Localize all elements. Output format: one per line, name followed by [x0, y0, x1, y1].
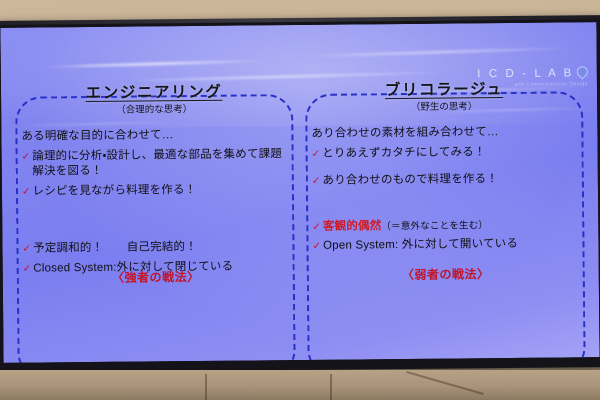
list-item: ✓ Open System: 外に対して開いている	[312, 237, 574, 255]
furniture-edge	[330, 374, 332, 400]
list-item-label: 論理的に分析・設計し、最適な部品を集めて課題解決を図る！	[32, 147, 284, 180]
lead-text-engineering: ある明確な目的に合わせて…	[21, 128, 283, 146]
screen-glare-streak	[41, 59, 271, 69]
checkmark-icon: ✓	[312, 175, 321, 188]
list-item-label: とりあえずカタチにしてみる！	[322, 144, 574, 162]
column-body-engineering: ある明確な目的に合わせて… ✓ 論理的に分析・設計し、最適な部品を集めて課題解決…	[15, 128, 294, 277]
list-item: ✓ 論理的に分析・設計し、最適な部品を集めて課題解決を図る！	[22, 147, 284, 180]
checkmark-icon: ✓	[312, 148, 321, 161]
list-item: ✓ 予定調和的！ 自己完結的！	[22, 239, 284, 257]
checkmark-icon: ✓	[312, 240, 321, 253]
presentation-slide: I C D - L A B and Communication Design エ…	[0, 22, 599, 363]
list-item: ✓ 客観的偶然（＝意外なことを生む）	[312, 217, 574, 235]
logo-wordmark-text: I C D - L A B	[477, 67, 574, 80]
column-subtitle-engineering: （合理的な思考）	[15, 104, 293, 117]
lead-text-bricolage: あり合わせの素材を組み合わせて…	[311, 125, 573, 143]
column-title-bricolage: ブリコラージュ	[305, 80, 583, 100]
highlighted-term-note: （＝意外なことを生む）	[381, 220, 488, 232]
comparison-columns: エンジニアリング （合理的な思考） ある明確な目的に合わせて… ✓ 論理的に分析…	[1, 80, 599, 281]
logo-wordmark: I C D - L A B	[477, 66, 588, 81]
checkmark-icon: ✓	[312, 221, 321, 234]
checkmark-icon: ✓	[22, 185, 31, 198]
checkmark-icon: ✓	[22, 151, 31, 164]
list-item-label: あり合わせのもので料理を作る！	[322, 172, 574, 190]
spacer	[312, 191, 574, 220]
list-item-label: レシピを見ながら料理を作る！	[32, 182, 284, 200]
column-bricolage: ブリコラージュ （野生の思考） あり合わせの素材を組み合わせて… ✓ とりあえず…	[305, 80, 585, 278]
column-footer-bricolage: 〈弱者の戦法〉	[307, 264, 585, 284]
room-scene: I C D - L A B and Communication Design エ…	[0, 0, 600, 400]
list-item-label: 客観的偶然（＝意外なことを生む）	[323, 217, 575, 235]
list-item-label: 予定調和的！ 自己完結的！	[33, 239, 285, 257]
list-item: ✓ あり合わせのもので料理を作る！	[312, 172, 574, 190]
spacer	[22, 201, 284, 242]
furniture-below-tv	[0, 370, 600, 400]
column-body-bricolage: あり合わせの素材を組み合わせて… ✓ とりあえずカタチにしてみる！ ✓ あり合わ…	[305, 125, 584, 255]
list-item: ✓ とりあえずカタチにしてみる！	[312, 144, 574, 162]
screen-glare-streak	[301, 46, 581, 58]
list-item-label: Open System: 外に対して開いている	[323, 237, 575, 255]
column-footer-engineering: 〈強者の戦法〉	[17, 267, 295, 287]
furniture-edge	[205, 374, 207, 400]
highlighted-term: 客観的偶然	[323, 220, 382, 233]
television: I C D - L A B and Communication Design エ…	[0, 15, 600, 373]
screen-glare-streak	[121, 71, 451, 82]
water-drop-icon	[575, 64, 591, 80]
list-item: ✓ レシピを見ながら料理を作る！	[22, 182, 284, 200]
tv-screen: I C D - L A B and Communication Design エ…	[0, 22, 599, 363]
column-engineering: エンジニアリング （合理的な思考） ある明確な目的に合わせて… ✓ 論理的に分析…	[15, 83, 295, 281]
column-subtitle-bricolage: （野生の思考）	[305, 101, 583, 114]
checkmark-icon: ✓	[22, 243, 31, 256]
column-title-engineering: エンジニアリング	[15, 83, 293, 103]
